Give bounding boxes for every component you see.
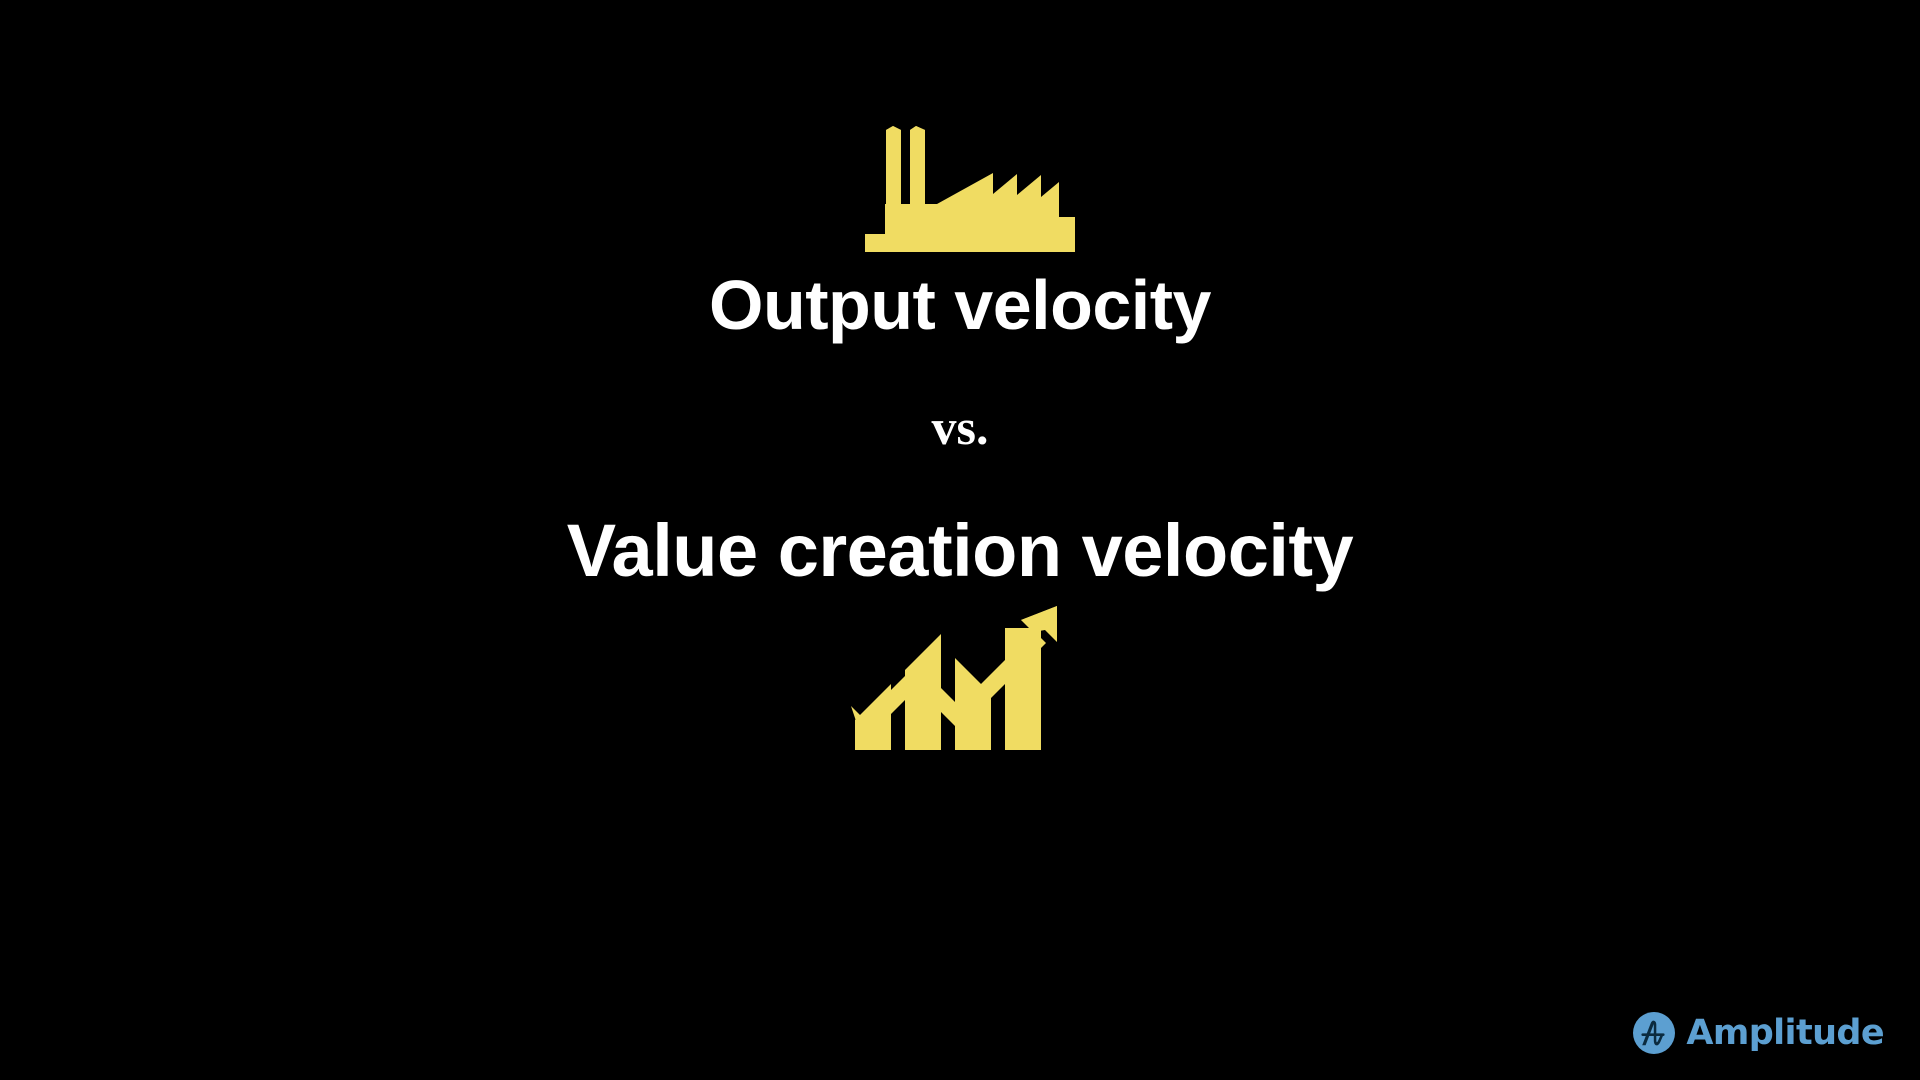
presentation-slide: Output velocity vs. Value creation veloc… [0,0,1920,1080]
headline-output-velocity: Output velocity [709,270,1211,340]
slide-content-stack: Output velocity vs. Value creation veloc… [0,0,1920,1080]
factory-icon [845,112,1075,252]
amplitude-brand-logo: Amplitude [1633,1012,1884,1054]
amplitude-wordmark: Amplitude [1686,1016,1884,1051]
versus-separator: vs. [932,402,989,452]
headline-value-creation-velocity: Value creation velocity [567,514,1353,588]
amplitude-logo-icon [1633,1012,1675,1054]
growth-chart-icon [851,598,1069,758]
